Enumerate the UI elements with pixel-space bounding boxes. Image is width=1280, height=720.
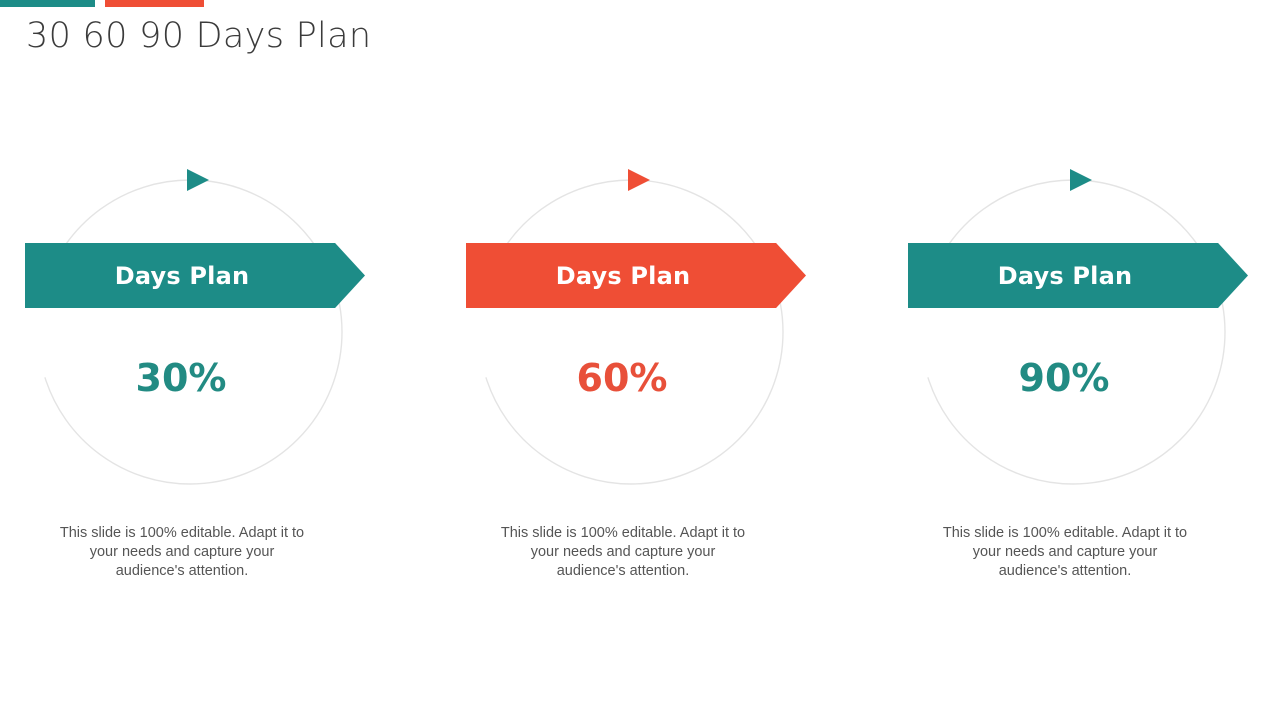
column-description: This slide is 100% editable. Adapt it to… (498, 524, 748, 581)
percent-value: 90% (908, 356, 1220, 400)
days-plan-banner[interactable]: Days Plan (466, 243, 806, 308)
plan-column-30: Days Plan 30% This slide is 100% editabl… (0, 0, 399, 720)
column-description: This slide is 100% editable. Adapt it to… (57, 524, 307, 581)
progress-ring-30 (37, 179, 343, 485)
days-plan-banner[interactable]: Days Plan (25, 243, 365, 308)
play-triangle-icon (628, 169, 650, 191)
progress-ring-90 (920, 179, 1226, 485)
column-description: This slide is 100% editable. Adapt it to… (940, 524, 1190, 581)
days-plan-banner[interactable]: Days Plan (908, 243, 1248, 308)
play-triangle-icon (187, 169, 209, 191)
slide-canvas: 30 60 90 Days Plan Days Plan 30% This sl… (0, 0, 1280, 720)
plan-column-60: Days Plan 60% This slide is 100% editabl… (420, 0, 840, 720)
percent-value: 30% (25, 356, 337, 400)
percent-value: 60% (466, 356, 778, 400)
banner-label: Days Plan (998, 262, 1133, 290)
progress-ring-60 (478, 179, 784, 485)
banner-label: Days Plan (115, 262, 250, 290)
plan-column-90: Days Plan 90% This slide is 100% editabl… (862, 0, 1280, 720)
plan-columns: Days Plan 30% This slide is 100% editabl… (0, 0, 1280, 720)
banner-label: Days Plan (556, 262, 691, 290)
play-triangle-icon (1070, 169, 1092, 191)
